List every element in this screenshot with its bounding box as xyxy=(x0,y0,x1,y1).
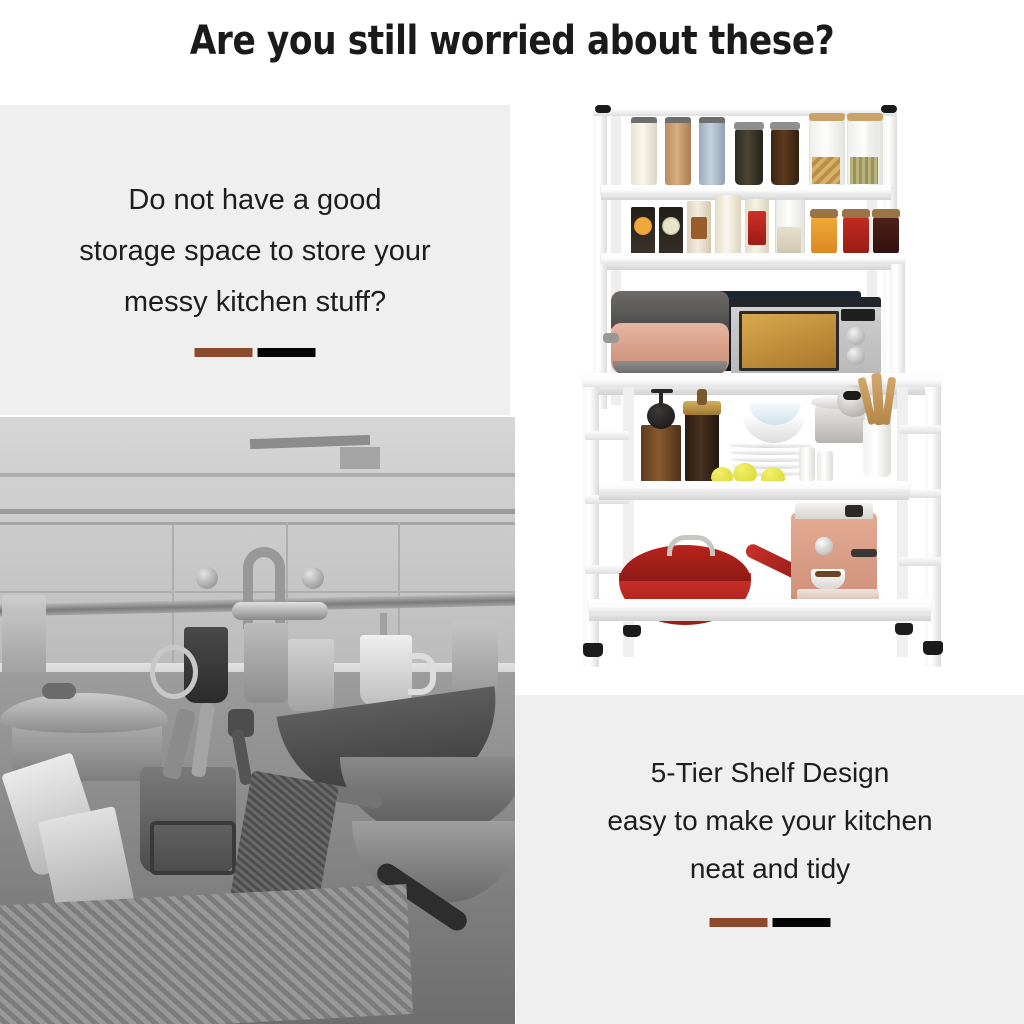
divider-black-segment xyxy=(773,918,831,927)
cream-box xyxy=(715,195,741,255)
grain-contents xyxy=(850,157,878,184)
shelf-board-edge xyxy=(599,493,909,500)
benefit-divider xyxy=(710,918,831,927)
leg-front-left xyxy=(583,387,599,667)
benefit-line-1: 5-Tier Shelf Design xyxy=(516,749,1024,797)
faucet-handle-left xyxy=(196,567,218,589)
side-rail-right xyxy=(899,425,941,434)
drinking-glass xyxy=(244,623,288,703)
flour-contents xyxy=(777,227,801,254)
oatmeal-canister xyxy=(631,117,657,185)
spice-box-label xyxy=(748,211,766,245)
hutch-leg-right xyxy=(891,264,905,374)
messy-kitchen-sink-photo xyxy=(0,417,515,1024)
wall-seam xyxy=(0,509,515,514)
tile-grout xyxy=(0,522,515,525)
microwave-knob xyxy=(847,347,865,365)
dark-jar xyxy=(771,129,799,185)
wall-chip xyxy=(340,447,380,469)
kettle-band xyxy=(843,391,861,400)
page-title: Are you still worried about these? xyxy=(72,18,953,64)
orange-jam-jar xyxy=(811,217,837,255)
benefit-copy-panel: 5-Tier Shelf Design easy to make your ki… xyxy=(516,693,1024,1024)
lemon xyxy=(733,463,757,483)
shelf-foot xyxy=(895,623,913,635)
wok-lid-handle xyxy=(667,535,715,556)
divider-black-segment xyxy=(258,348,316,357)
tea-box-label xyxy=(634,217,652,235)
espresso-knob xyxy=(815,537,833,555)
shelf-board-tier5 xyxy=(589,599,931,613)
pot-lid-knob xyxy=(42,683,76,699)
problem-line-1: Do not have a good xyxy=(0,175,510,226)
benefit-line-2: easy to make your kitchen xyxy=(516,797,1024,845)
hutch-leg-left xyxy=(593,264,607,374)
shelf-board-tier1 xyxy=(601,185,891,195)
problem-line-3: messy kitchen stuff? xyxy=(0,277,510,328)
mug-handle xyxy=(408,653,436,695)
divider-brown-segment xyxy=(195,348,253,357)
oat-milk-canister xyxy=(699,117,725,185)
dark-jam-jar xyxy=(873,217,899,255)
steam-wand xyxy=(851,549,877,557)
side-rail-right xyxy=(899,557,941,566)
shelf-board-edge xyxy=(601,264,905,270)
side-rail-left xyxy=(585,431,629,440)
benefit-copy-text: 5-Tier Shelf Design easy to make your ki… xyxy=(516,749,1024,893)
wall-seam xyxy=(0,473,515,477)
espresso-switch xyxy=(845,505,863,517)
shelf-foot xyxy=(583,643,603,657)
benefit-line-3: neat and tidy xyxy=(516,845,1024,893)
microwave-knob xyxy=(847,327,865,345)
promo-image: Are you still worried about these? Do no… xyxy=(0,0,1024,1024)
glass-jar xyxy=(2,595,46,681)
shelf-board-tier4 xyxy=(599,481,909,493)
microwave-top xyxy=(731,297,881,307)
coffee-grinder-wood-base xyxy=(641,425,681,483)
faucet-handle-right xyxy=(302,567,324,589)
pepper-shaker xyxy=(817,451,833,481)
post-cap-right xyxy=(881,105,897,113)
5-tier-kitchen-baker-rack-photo xyxy=(515,95,1024,695)
microwave-display xyxy=(841,309,875,321)
red-jam-jar xyxy=(843,217,869,255)
dish-towel xyxy=(0,884,413,1024)
tile-grout xyxy=(172,525,174,665)
utensil-crock xyxy=(863,419,891,477)
cup-handle xyxy=(150,645,198,699)
white-mug xyxy=(360,635,412,705)
tea-box-label xyxy=(662,217,680,235)
shelf-foot xyxy=(623,625,641,637)
whole-wheat-canister xyxy=(665,117,691,185)
grinder-crank-shaft xyxy=(659,391,663,407)
shelf-board-tier2 xyxy=(601,253,905,264)
pot-rim xyxy=(150,821,236,875)
faucet-body xyxy=(232,602,328,620)
rice-cooker-handle xyxy=(603,333,619,343)
pasta-contents xyxy=(812,157,840,184)
problem-copy-panel: Do not have a good storage space to stor… xyxy=(0,105,510,415)
problem-line-2: storage space to store your xyxy=(0,226,510,277)
problem-divider xyxy=(195,348,316,357)
cocoa-box-label xyxy=(691,217,707,239)
coffee-press-knob xyxy=(697,389,707,405)
shelf-foot xyxy=(923,641,943,655)
microwave-window xyxy=(739,311,839,371)
dark-jar xyxy=(735,129,763,185)
espresso-coffee xyxy=(815,571,841,577)
shelf-board-edge xyxy=(589,613,931,621)
drinking-glass xyxy=(288,639,334,711)
salt-shaker xyxy=(799,447,815,481)
divider-brown-segment xyxy=(710,918,768,927)
problem-copy-text: Do not have a good storage space to stor… xyxy=(0,175,510,328)
post-cap-left xyxy=(595,105,611,113)
grinder-crank-arm xyxy=(651,389,673,393)
